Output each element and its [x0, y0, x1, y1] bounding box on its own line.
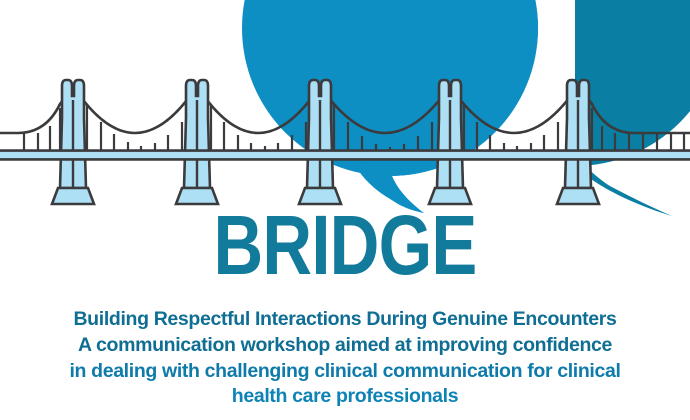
bridge-deck: [0, 150, 690, 160]
subtitle-block: Building Respectful Interactions During …: [0, 307, 690, 410]
subtitle-line-3: in dealing with challenging clinical com…: [0, 359, 690, 385]
bridge-wordmark: BRIDGE: [62, 203, 628, 287]
subtitle-line-1: Building Respectful Interactions During …: [0, 307, 690, 333]
subtitle-line-2: A communication workshop aimed at improv…: [0, 333, 690, 359]
bridge-workshop-banner: BRIDGE Building Respectful Interactions …: [0, 0, 690, 420]
subtitle-line-4: health care professionals: [0, 384, 690, 410]
